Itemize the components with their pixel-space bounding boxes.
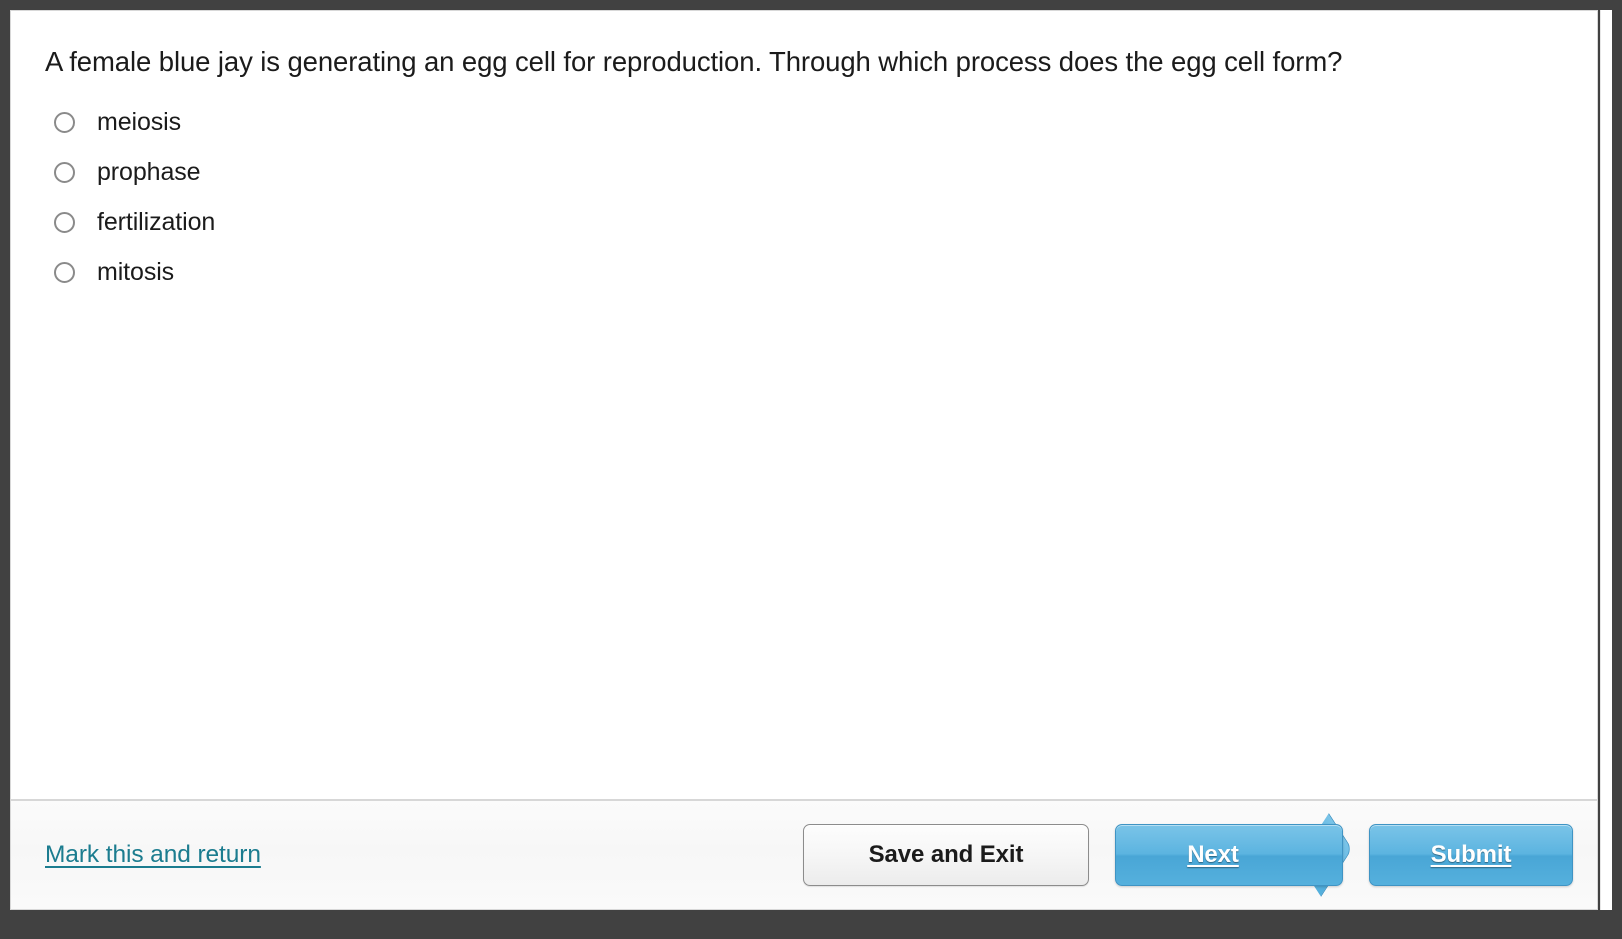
answer-option-mitosis[interactable]: mitosis [45,247,1563,297]
question-text: A female blue jay is generating an egg c… [45,45,1563,79]
radio-button-icon[interactable] [54,212,75,233]
next-button-label: Next [1115,824,1311,886]
answer-option-label: meiosis [97,110,181,135]
save-and-exit-button[interactable]: Save and Exit [803,824,1089,886]
radio-button-icon[interactable] [54,262,75,283]
browser-viewport: A female blue jay is generating an egg c… [0,0,1622,939]
radio-button-icon[interactable] [54,162,75,183]
question-footer-bar: Mark this and return Save and Exit Next … [11,799,1597,909]
answer-options-list: meiosis prophase fertilization mitosis [45,97,1563,297]
radio-button-icon[interactable] [54,112,75,133]
answer-option-label: mitosis [97,260,174,285]
footer-action-buttons: Save and Exit Next Submit [803,824,1573,886]
submit-button[interactable]: Submit [1369,824,1573,886]
vertical-scrollbar[interactable] [1600,10,1612,910]
answer-option-label: prophase [97,160,200,185]
answer-option-label: fertilization [97,210,215,235]
answer-option-fertilization[interactable]: fertilization [45,197,1563,247]
question-content-area: A female blue jay is generating an egg c… [11,11,1597,799]
answer-option-prophase[interactable]: prophase [45,147,1563,197]
scrollbar-thumb[interactable] [1601,12,1611,38]
mark-this-and-return-link[interactable]: Mark this and return [45,841,261,869]
next-button[interactable]: Next [1115,824,1343,886]
question-page-panel: A female blue jay is generating an egg c… [10,10,1598,910]
answer-option-meiosis[interactable]: meiosis [45,97,1563,147]
